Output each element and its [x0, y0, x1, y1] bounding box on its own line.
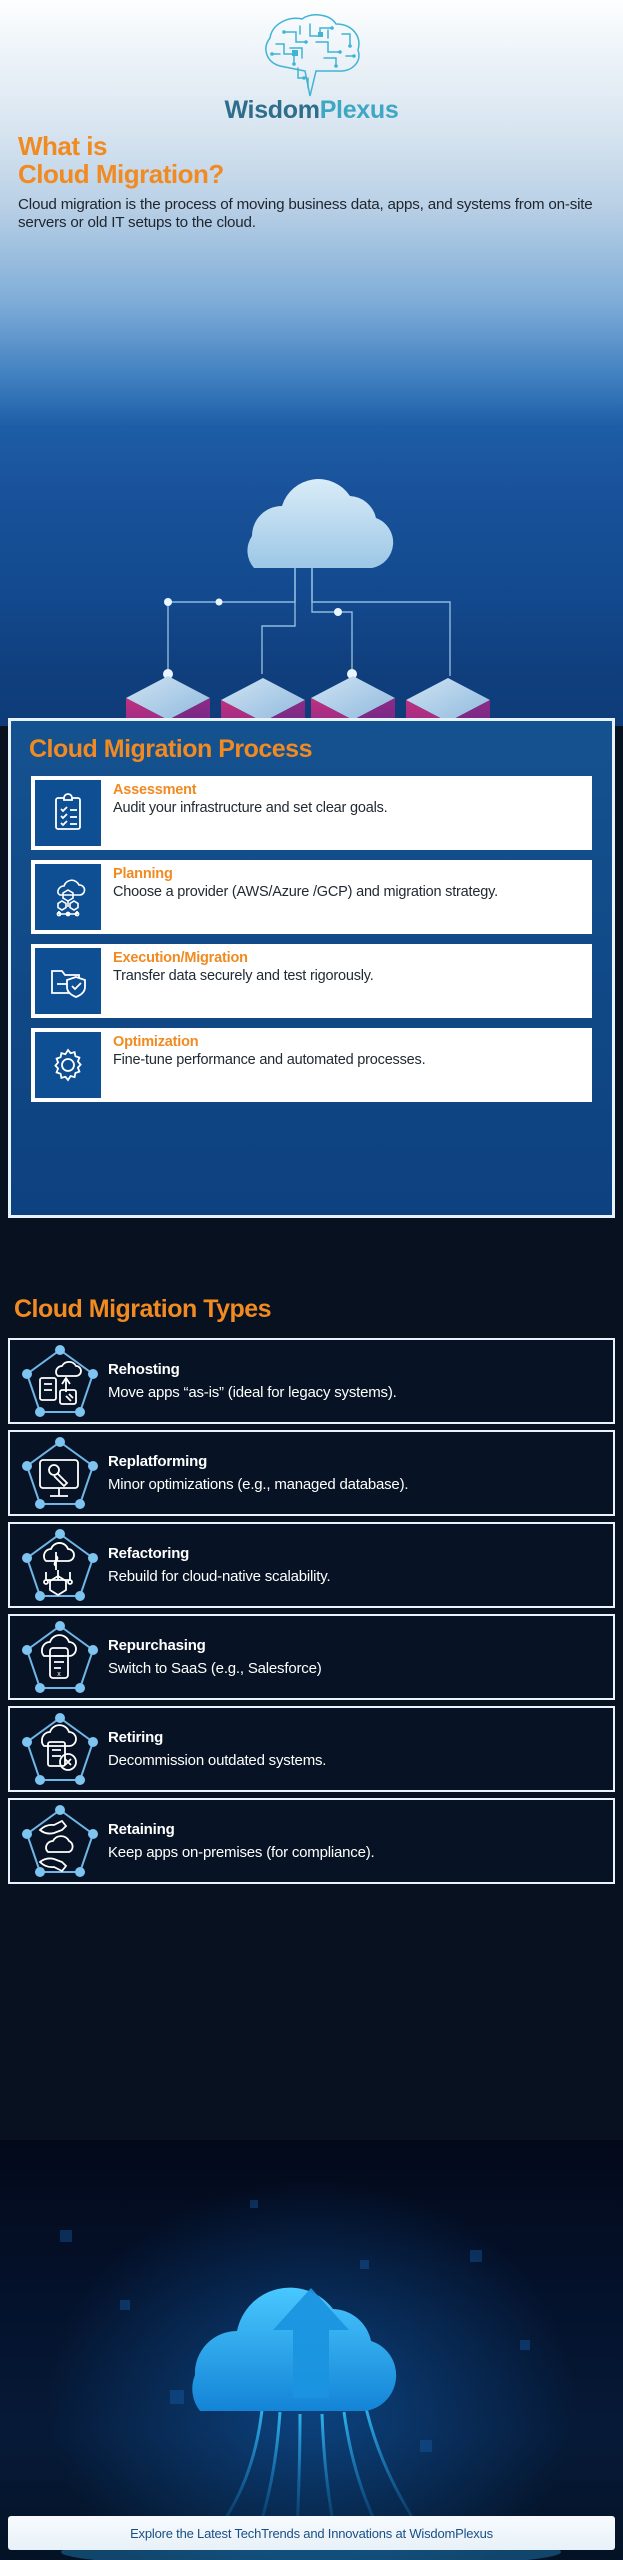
type-item-text: Rehosting Move apps “as-is” (ideal for l… [106, 1357, 609, 1406]
process-item-title: Execution/Migration [113, 950, 582, 967]
type-item-title: Retaining [108, 1821, 601, 1838]
process-item[interactable]: Execution/Migration Transfer data secure… [31, 944, 592, 1018]
type-item-text: Retiring Decommission outdated systems. [106, 1725, 609, 1774]
process-item-desc: Transfer data securely and test rigorous… [113, 968, 582, 986]
headline-line-2: Cloud Migration? [18, 160, 438, 188]
type-item-title: Replatforming [108, 1453, 601, 1470]
footer-cta-label: Explore the Latest TechTrends and Innova… [130, 2526, 493, 2541]
type-item[interactable]: Retiring Decommission outdated systems. [8, 1706, 615, 1792]
process-item-desc: Choose a provider (AWS/Azure /GCP) and m… [113, 884, 582, 902]
hero-section: WisdomPlexus What is Cloud Migration? Cl… [0, 0, 623, 430]
cloud-cube-network-icon [14, 1528, 106, 1602]
cloud-nodes-icon [35, 864, 101, 930]
type-item-desc: Minor optimizations (e.g., managed datab… [108, 1476, 601, 1494]
brand-name-primary: Wisdom [224, 96, 319, 124]
svg-text:x: x [57, 1671, 61, 1678]
type-item-desc: Move apps “as-is” (ideal for legacy syst… [108, 1384, 601, 1402]
circuit-brain-logo-icon [232, 8, 392, 105]
gear-icon [35, 1032, 101, 1098]
type-item-desc: Keep apps on-premises (for compliance). [108, 1844, 601, 1862]
process-item[interactable]: Planning Choose a provider (AWS/Azure /G… [31, 860, 592, 934]
type-item-title: Refactoring [108, 1545, 601, 1562]
intro-paragraph: Cloud migration is the process of moving… [18, 196, 608, 232]
type-item-desc: Rebuild for cloud-native scalability. [108, 1568, 601, 1586]
process-item-title: Planning [113, 866, 582, 883]
process-item-text: Planning Choose a provider (AWS/Azure /G… [101, 860, 592, 934]
cloud-document-delete-icon [14, 1712, 106, 1786]
type-item-title: Repurchasing [108, 1637, 601, 1654]
type-item-text: Refactoring Rebuild for cloud-native sca… [106, 1541, 609, 1590]
cloud-migration-process-section: Cloud Migration Process Assessment Audit… [8, 718, 615, 1218]
process-item-title: Assessment [113, 782, 582, 799]
bottom-cloud-illustration [0, 2140, 623, 2560]
type-item[interactable]: Refactoring Rebuild for cloud-native sca… [8, 1522, 615, 1608]
process-item[interactable]: Assessment Audit your infrastructure and… [31, 776, 592, 850]
process-heading: Cloud Migration Process [29, 735, 598, 764]
type-item[interactable]: x Repurchasing Switch to SaaS (e.g., Sal… [8, 1614, 615, 1700]
monitor-wrench-icon [14, 1436, 106, 1510]
type-item[interactable]: Rehosting Move apps “as-is” (ideal for l… [8, 1338, 615, 1424]
type-item-desc: Switch to SaaS (e.g., Salesforce) [108, 1660, 601, 1678]
types-list: Rehosting Move apps “as-is” (ideal for l… [8, 1338, 615, 1890]
clipboard-checklist-icon [35, 780, 101, 846]
server-cloud-upload-icon [14, 1344, 106, 1418]
brand-name-secondary: Plexus [320, 96, 399, 124]
type-item-title: Rehosting [108, 1361, 601, 1378]
type-item-text: Retaining Keep apps on-premises (for com… [106, 1817, 609, 1866]
type-item-title: Retiring [108, 1729, 601, 1746]
type-item-text: Repurchasing Switch to SaaS (e.g., Sales… [106, 1633, 609, 1682]
process-item-desc: Fine-tune performance and automated proc… [113, 1052, 582, 1070]
process-item-desc: Audit your infrastructure and set clear … [113, 800, 582, 818]
page-title: What is Cloud Migration? [18, 132, 438, 188]
type-item[interactable]: Retaining Keep apps on-premises (for com… [8, 1798, 615, 1884]
cloud-document-icon: x [14, 1620, 106, 1694]
cloud-servers-illustration [0, 426, 623, 726]
logo-wrapper [0, 8, 623, 105]
hands-holding-cloud-icon [14, 1804, 106, 1878]
process-item-text: Optimization Fine-tune performance and a… [101, 1028, 592, 1102]
brand-wordmark: WisdomPlexus [0, 96, 623, 125]
headline-line-1: What is [18, 131, 107, 161]
process-item-title: Optimization [113, 1034, 582, 1051]
process-item-text: Assessment Audit your infrastructure and… [101, 776, 592, 850]
types-heading: Cloud Migration Types [14, 1295, 271, 1324]
type-item-text: Replatforming Minor optimizations (e.g.,… [106, 1449, 609, 1498]
process-item-text: Execution/Migration Transfer data secure… [101, 944, 592, 1018]
footer-cta[interactable]: Explore the Latest TechTrends and Innova… [8, 2516, 615, 2550]
process-item[interactable]: Optimization Fine-tune performance and a… [31, 1028, 592, 1102]
glowing-cloud-upload-arrow-icon [0, 2140, 623, 2560]
type-item[interactable]: Replatforming Minor optimizations (e.g.,… [8, 1430, 615, 1516]
type-item-desc: Decommission outdated systems. [108, 1752, 601, 1770]
folder-arrow-shield-icon [35, 948, 101, 1014]
cloud-server-diagram-icon [0, 426, 623, 726]
